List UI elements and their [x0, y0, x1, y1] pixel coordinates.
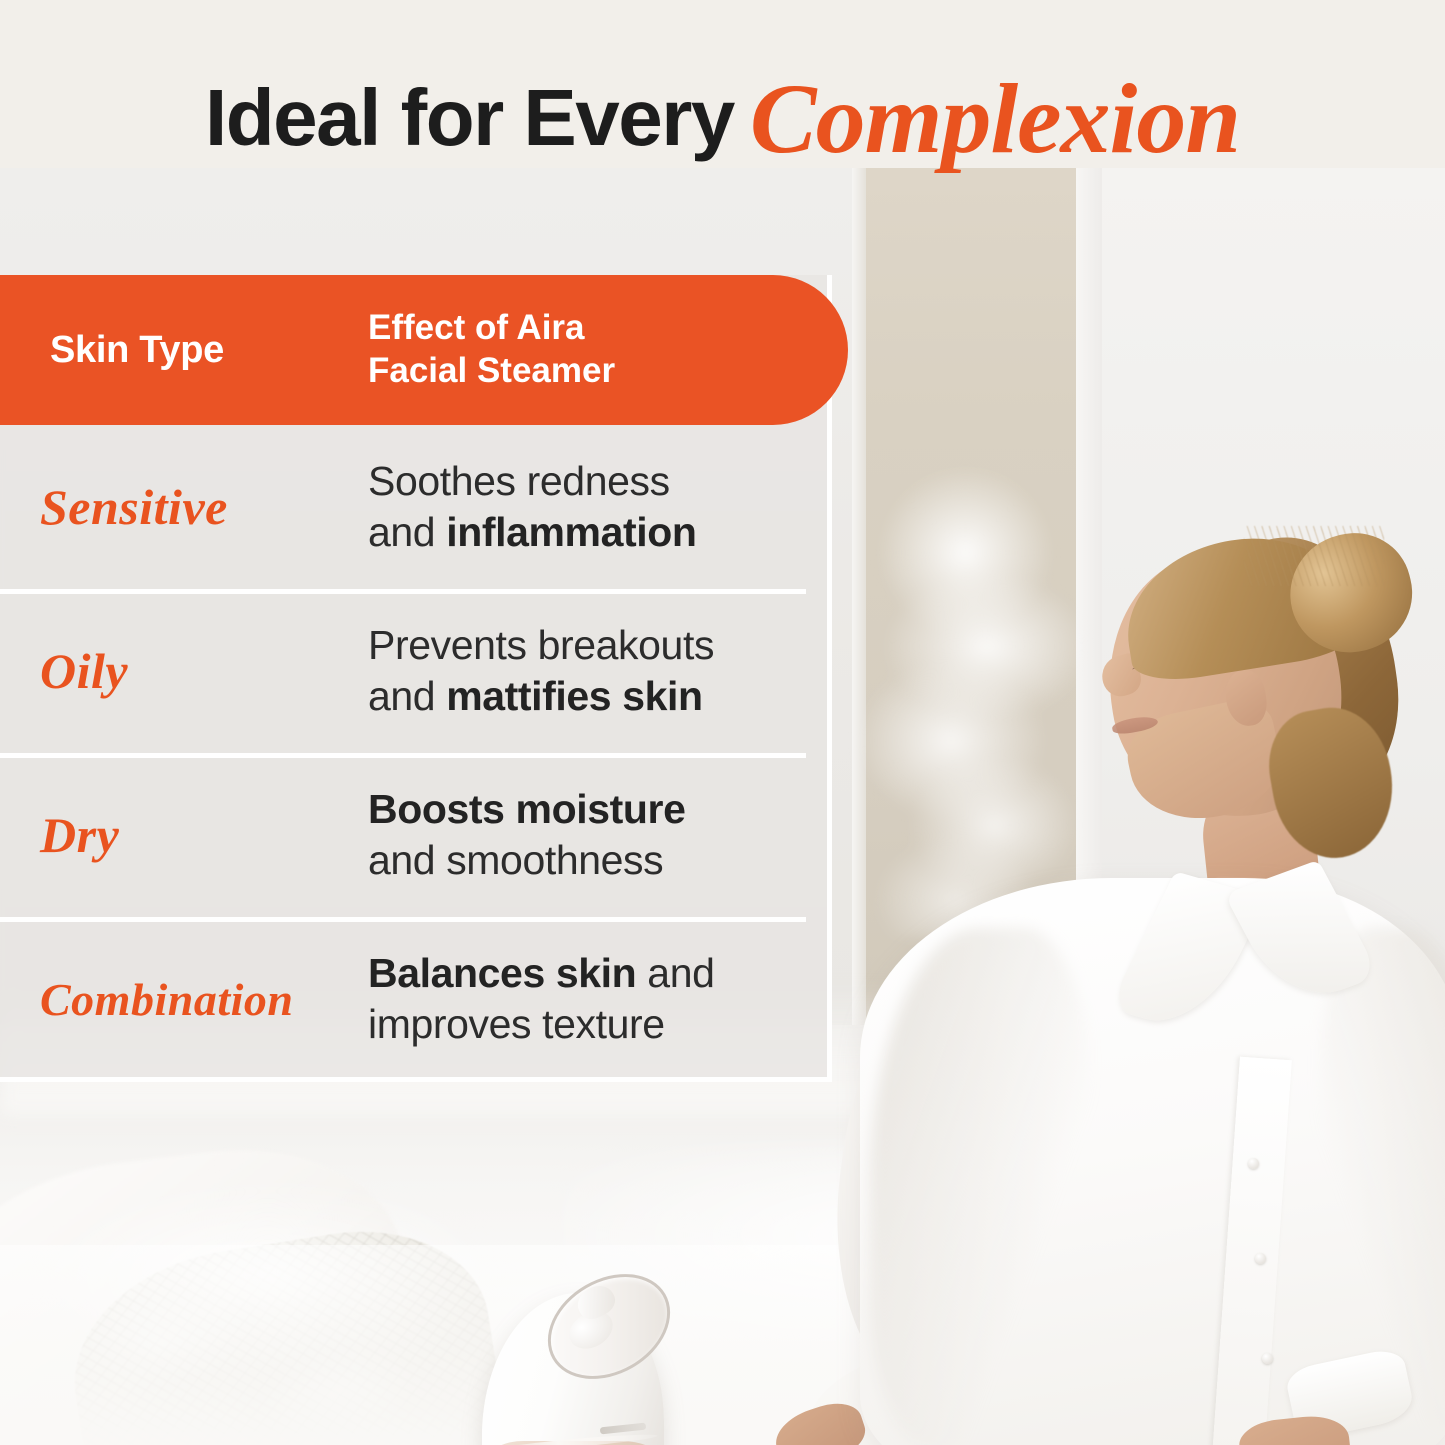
table-row: Oily Prevents breakouts and mattifies sk… — [0, 589, 832, 753]
page-title: Ideal for Every Complexion — [0, 58, 1445, 178]
infographic-stage: Ideal for Every Complexion Skin Type Eff… — [0, 0, 1445, 1445]
title-plain-text: Ideal for Every — [205, 72, 734, 164]
shirt-shadow-left — [870, 928, 1090, 1445]
table-header-cell-skin-type: Skin Type — [0, 329, 368, 372]
row-effect: Balances skin and improves texture — [368, 948, 832, 1050]
row-effect: Soothes redness and inflammation — [368, 456, 832, 558]
effect-line1-bold: Boosts moisture — [368, 786, 686, 832]
shirt-button — [1262, 1353, 1273, 1364]
row-effect: Prevents breakouts and mattifies skin — [368, 620, 832, 722]
effect-line2-bold: mattifies skin — [446, 673, 702, 719]
model-hair-wisps — [1244, 526, 1384, 586]
effect-line1: Prevents breakouts — [368, 622, 714, 668]
table-header-row: Skin Type Effect of Aira Facial Steamer — [0, 275, 848, 425]
table-body: Sensitive Soothes redness and inflammati… — [0, 425, 832, 1081]
title-accent-text: Complexion — [750, 61, 1240, 176]
table-header-cell-effect: Effect of Aira Facial Steamer — [368, 307, 848, 392]
table-row: Combination Balances skin and improves t… — [0, 917, 832, 1081]
comparison-table: Skin Type Effect of Aira Facial Steamer … — [0, 275, 832, 1082]
header-label-effect-line1: Effect of Aira — [368, 307, 818, 350]
row-skin-type: Combination — [0, 973, 368, 1026]
header-label-skin-type: Skin Type — [50, 329, 368, 372]
effect-line2-bold: inflammation — [446, 509, 696, 555]
effect-line1-bold: Balances skin — [368, 950, 636, 996]
row-skin-type: Oily — [0, 642, 368, 700]
table-row: Dry Boosts moisture and smoothness — [0, 753, 832, 917]
header-label-effect-line2: Facial Steamer — [368, 350, 818, 393]
model-figure — [990, 408, 1445, 1445]
effect-line2-regular: and — [368, 509, 446, 555]
table-row: Sensitive Soothes redness and inflammati… — [0, 425, 832, 589]
row-skin-type: Sensitive — [0, 478, 368, 536]
effect-line2-regular: and — [368, 673, 446, 719]
shirt-button — [1255, 1253, 1266, 1264]
row-effect: Boosts moisture and smoothness — [368, 784, 832, 886]
effect-line1: Soothes redness — [368, 458, 670, 504]
effect-line2-regular: improves texture — [368, 1001, 665, 1047]
shirt-button — [1248, 1158, 1259, 1169]
row-skin-type: Dry — [0, 806, 368, 864]
effect-line1-regular: and — [636, 950, 714, 996]
facial-steamer-product — [482, 1273, 682, 1445]
effect-line2-regular: and smoothness — [368, 837, 663, 883]
